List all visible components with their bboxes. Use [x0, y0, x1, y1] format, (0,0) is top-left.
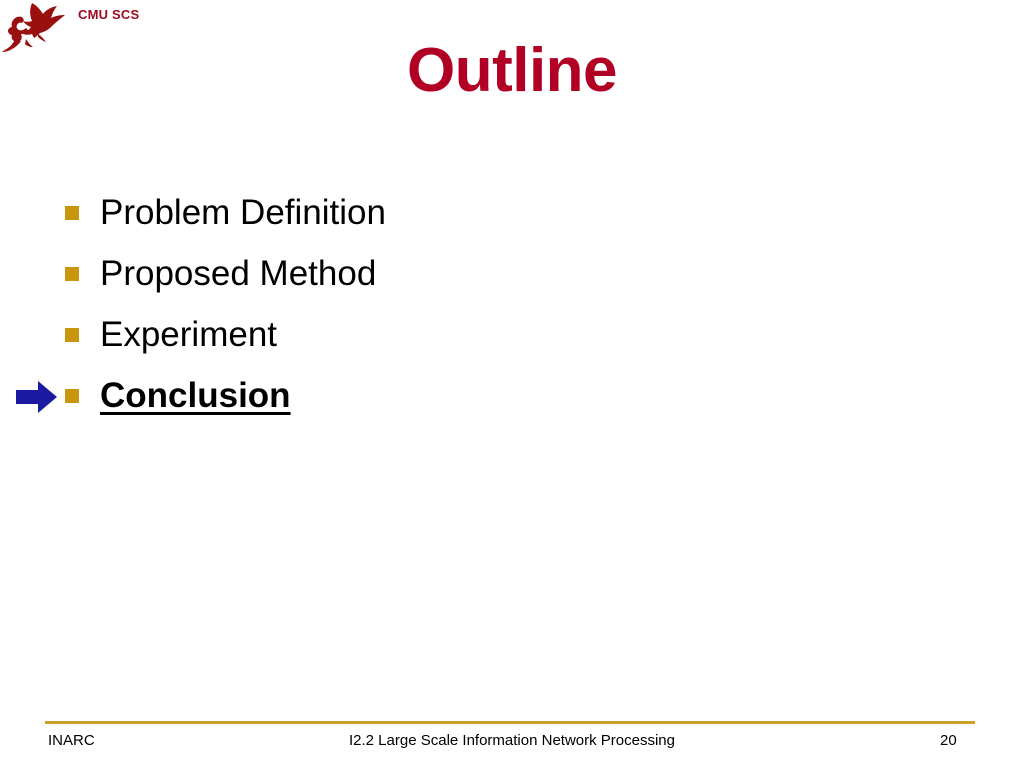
list-item-label: Experiment — [100, 308, 277, 362]
page-title: Outline — [0, 38, 1024, 103]
bullet-square-icon — [65, 389, 79, 403]
brand-label: CMU SCS — [78, 7, 139, 22]
list-item-label: Problem Definition — [100, 186, 386, 240]
bullet-square-icon — [65, 206, 79, 220]
footer-project-title: I2.2 Large Scale Information Network Pro… — [0, 732, 1024, 749]
footer-page-number: 20 — [940, 732, 957, 749]
outline-list: Problem Definition Proposed Method Exper… — [0, 186, 1024, 430]
list-item-label: Proposed Method — [100, 247, 376, 301]
list-item-current[interactable]: Conclusion — [0, 369, 1024, 430]
bullet-square-icon — [65, 328, 79, 342]
list-item[interactable]: Experiment — [0, 308, 1024, 369]
footer: INARC I2.2 Large Scale Information Netwo… — [0, 732, 1024, 756]
list-item[interactable]: Proposed Method — [0, 247, 1024, 308]
list-item-label: Conclusion — [100, 369, 291, 423]
bullet-square-icon — [65, 267, 79, 281]
right-arrow-icon — [16, 380, 58, 414]
footer-divider — [45, 721, 975, 724]
list-item[interactable]: Problem Definition — [0, 186, 1024, 247]
